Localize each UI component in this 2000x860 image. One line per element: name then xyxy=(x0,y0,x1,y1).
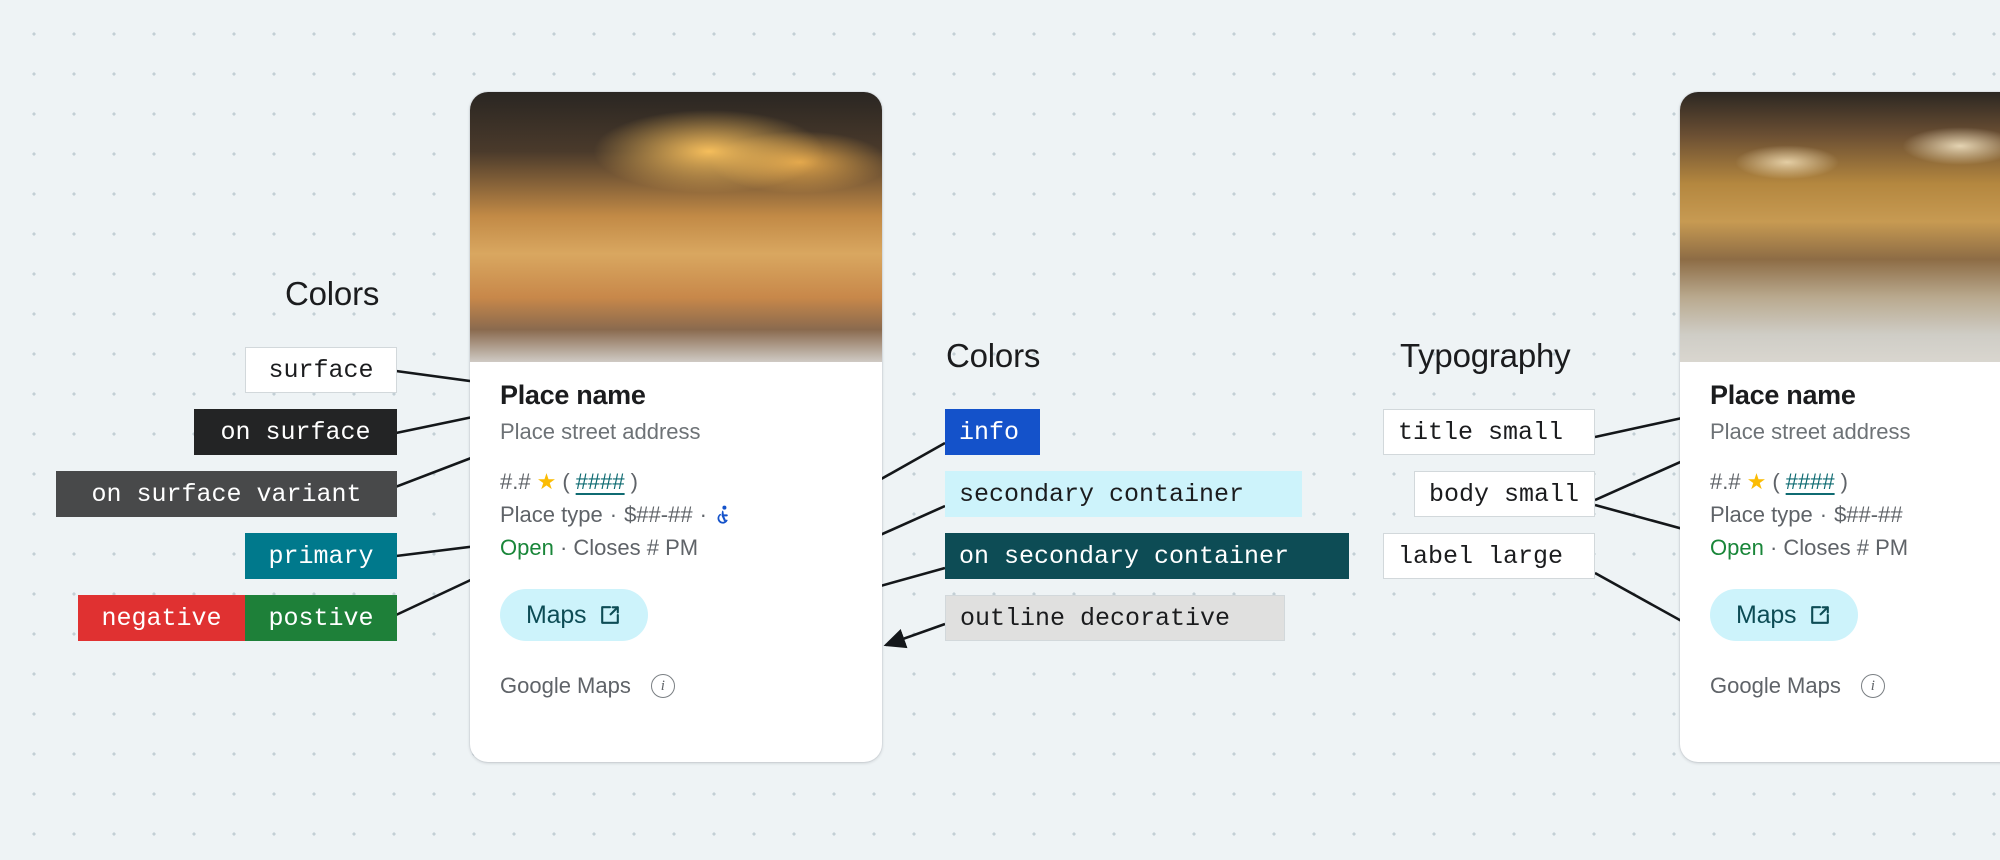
place-card-colors: Place name Place street address #.# ★ (#… xyxy=(470,92,882,762)
type-chip-label: label large xyxy=(1398,544,1563,569)
color-chip-label: info xyxy=(959,420,1019,445)
rating-value: #.# xyxy=(1710,469,1741,495)
color-chip-label: postive xyxy=(268,606,373,631)
section-title-colors-mid: Colors xyxy=(946,337,1040,375)
card-footer: Google Maps i xyxy=(1710,673,2000,721)
color-chip-primary[interactable]: primary xyxy=(245,533,397,579)
color-chip-info[interactable]: info xyxy=(945,409,1040,455)
meta-separator-2: · xyxy=(700,502,707,528)
color-chip-label: negative xyxy=(101,606,221,631)
rating-row: #.# ★ (####) xyxy=(1710,469,2000,495)
hours-separator: · xyxy=(1770,535,1777,560)
card-footer: Google Maps i xyxy=(500,673,852,721)
open-in-new-icon xyxy=(1808,603,1832,627)
color-chip-on-secondary-container[interactable]: on secondary container xyxy=(945,533,1349,579)
color-chip-secondary-container[interactable]: secondary container xyxy=(945,471,1302,517)
star-icon: ★ xyxy=(1747,471,1767,493)
place-photo xyxy=(470,92,882,362)
attribution-text: Google Maps xyxy=(1710,673,1841,699)
attribution-text: Google Maps xyxy=(500,673,631,699)
closes-text: Closes # PM xyxy=(1783,535,1908,560)
type-chip-label: body small xyxy=(1429,482,1579,507)
open-status: Open xyxy=(1710,535,1764,560)
wheelchair-accessible-icon xyxy=(714,504,734,526)
type-chip-title-small[interactable]: title small xyxy=(1383,409,1595,455)
hours-separator: · xyxy=(560,535,567,560)
color-chip-label: surface xyxy=(268,358,373,383)
place-photo xyxy=(1680,92,2000,362)
place-address: Place street address xyxy=(500,419,852,445)
color-chip-on-surface[interactable]: on surface xyxy=(194,409,397,455)
color-chip-label: on secondary container xyxy=(959,544,1289,569)
place-hours-row: Open · Closes # PM xyxy=(1710,535,2000,561)
color-chip-label: outline decorative xyxy=(960,606,1230,631)
section-title-typography: Typography xyxy=(1400,337,1570,375)
color-chip-postive[interactable]: postive xyxy=(245,595,397,641)
place-meta-row: Place type · $##-## xyxy=(1710,502,2000,528)
closes-text: Closes # PM xyxy=(573,535,698,560)
bakery-pastry-display-photo xyxy=(470,92,882,362)
price-range: $##-## xyxy=(1834,502,1903,528)
maps-button-label: Maps xyxy=(1736,601,1796,630)
review-count-open: ( xyxy=(562,469,569,495)
open-in-new-icon xyxy=(598,603,622,627)
color-chip-label: on surface xyxy=(220,420,370,445)
type-chip-label: title small xyxy=(1398,420,1563,445)
place-meta-row: Place type · $##-## · xyxy=(500,502,852,528)
place-name: Place name xyxy=(500,362,852,411)
place-type: Place type xyxy=(500,502,603,528)
type-chip-body-small[interactable]: body small xyxy=(1414,471,1595,517)
color-chip-outline-decorative[interactable]: outline decorative xyxy=(945,595,1285,641)
color-chip-negative[interactable]: negative xyxy=(78,595,245,641)
color-chip-label: primary xyxy=(268,544,373,569)
color-chip-label: on surface variant xyxy=(91,482,361,507)
info-icon[interactable]: i xyxy=(651,674,675,698)
place-name: Place name xyxy=(1710,362,2000,411)
type-chip-label-large[interactable]: label large xyxy=(1383,533,1595,579)
place-type: Place type xyxy=(1710,502,1813,528)
info-icon[interactable]: i xyxy=(1861,674,1885,698)
review-count-open: ( xyxy=(1772,469,1779,495)
rating-value: #.# xyxy=(500,469,531,495)
review-count-close: ) xyxy=(1841,469,1848,495)
color-chip-on-surface-variant[interactable]: on surface variant xyxy=(56,471,397,517)
review-count-link[interactable]: #### xyxy=(1786,469,1835,495)
place-card-body: Place name Place street address #.# ★ (#… xyxy=(1680,362,2000,721)
place-address: Place street address xyxy=(1710,419,2000,445)
maps-button[interactable]: Maps xyxy=(500,589,648,641)
price-range: $##-## xyxy=(624,502,693,528)
meta-separator: · xyxy=(610,502,617,528)
place-hours-row: Open · Closes # PM xyxy=(500,535,852,561)
rating-row: #.# ★ (####) xyxy=(500,469,852,495)
color-chip-label: secondary container xyxy=(959,482,1244,507)
review-count-close: ) xyxy=(631,469,638,495)
section-title-colors-left: Colors xyxy=(285,275,379,313)
review-count-link[interactable]: #### xyxy=(576,469,625,495)
color-chip-surface[interactable]: surface xyxy=(245,347,397,393)
cafe-interior-counter-photo xyxy=(1680,92,2000,362)
canvas: Colors Colors Typography surface on surf… xyxy=(0,0,2000,860)
meta-separator: · xyxy=(1820,502,1827,528)
maps-button-label: Maps xyxy=(526,601,586,630)
maps-button[interactable]: Maps xyxy=(1710,589,1858,641)
open-status: Open xyxy=(500,535,554,560)
place-card-typography: Place name Place street address #.# ★ (#… xyxy=(1680,92,2000,762)
place-card-body: Place name Place street address #.# ★ (#… xyxy=(470,362,882,721)
star-icon: ★ xyxy=(537,471,557,493)
